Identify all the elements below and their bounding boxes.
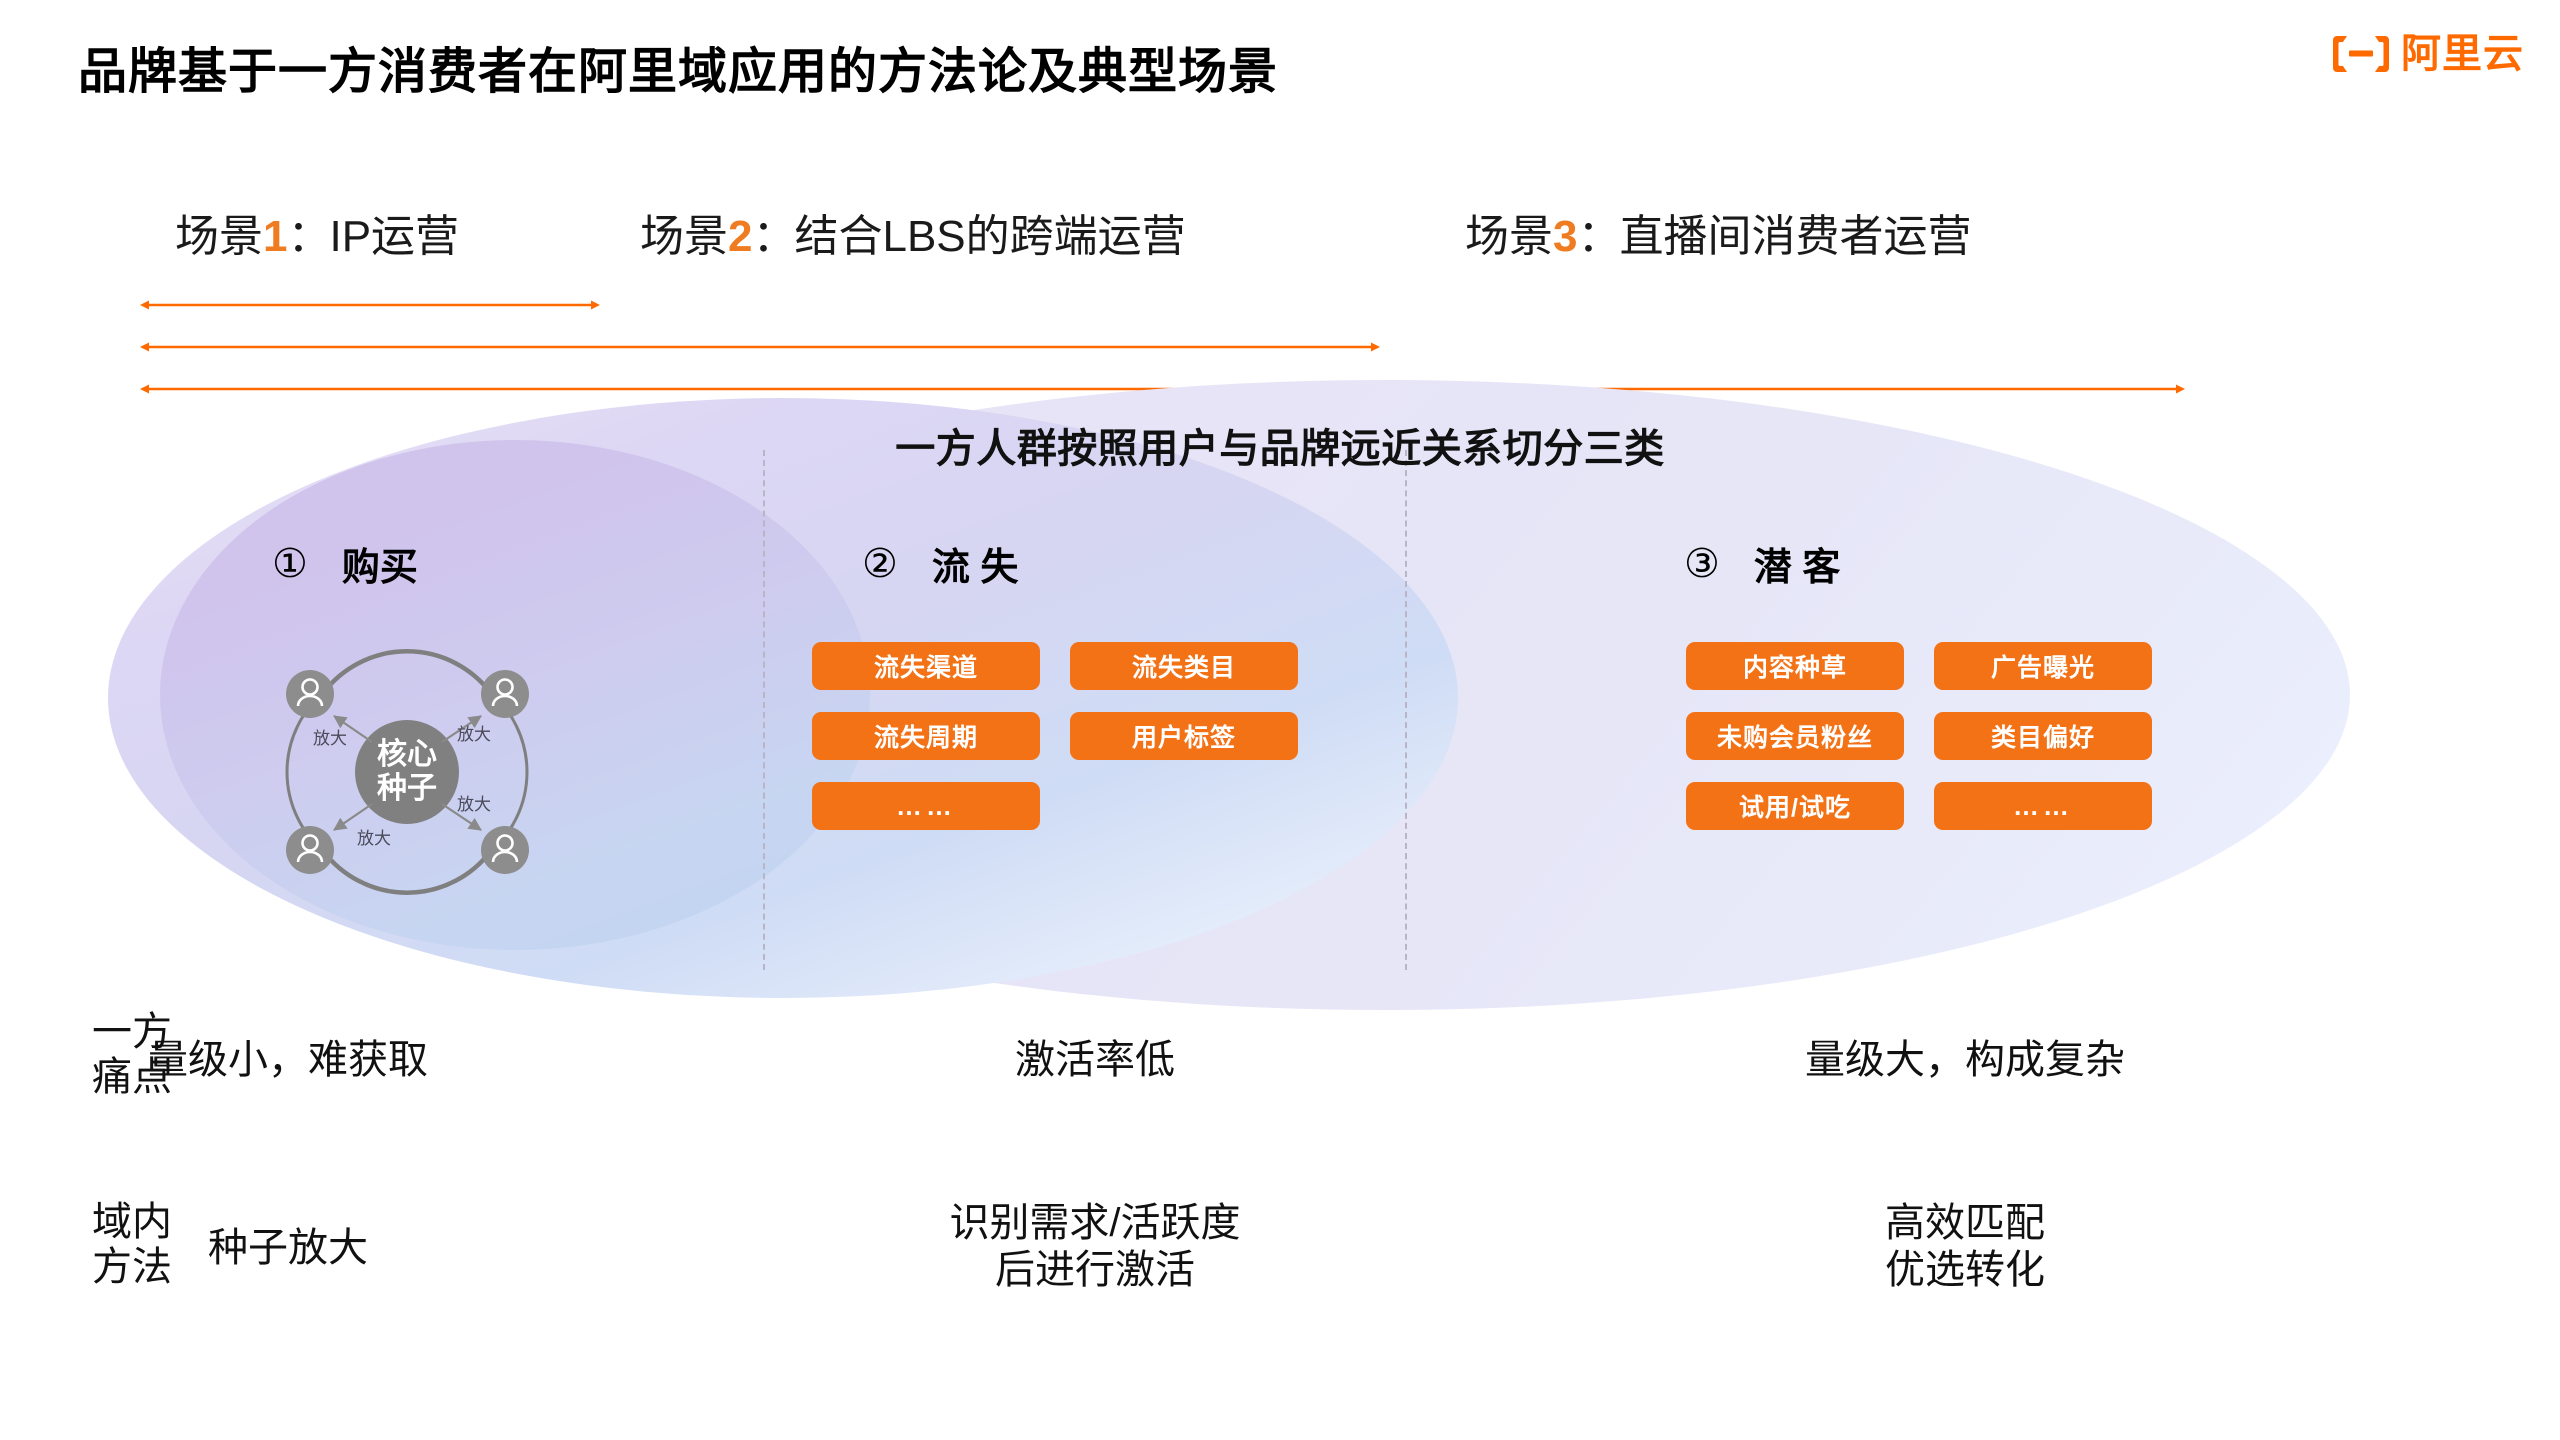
row-label-domain-method: 域内 方法 (92, 1200, 172, 1290)
scene-1-number: 1 (263, 212, 287, 261)
group-1-number: ① (272, 544, 308, 584)
method-value-churn-line2: 后进行激活 (949, 1247, 1240, 1294)
method-label-line1: 域内 (92, 1200, 172, 1245)
method-value-prospect-line2: 优选转化 (1885, 1247, 2045, 1294)
method-value-prospect-line1: 高效匹配 (1885, 1200, 2045, 1247)
alibaba-cloud-logo-icon (2333, 34, 2389, 74)
audience-tag[interactable]: …… (812, 782, 1040, 830)
audience-tag[interactable]: …… (1934, 782, 2152, 830)
group-divider-1 (763, 450, 765, 970)
group-header-prospect: ③ 潜 客 (1684, 536, 1840, 591)
prospect-tag-grid: 内容种草广告曝光未购会员粉丝类目偏好试用/试吃…… (1686, 642, 2152, 830)
audience-tag[interactable]: 用户标签 (1070, 712, 1298, 760)
logo-text: 阿里云 (2401, 34, 2524, 74)
group-3-name: 潜 客 (1754, 536, 1841, 591)
seed-center-line2: 种子 (377, 772, 437, 805)
amplify-label: 放大 (313, 729, 347, 748)
alibaba-cloud-logo: 阿里云 (2333, 34, 2524, 74)
scene-2-number: 2 (728, 212, 752, 261)
group-2-number: ② (862, 544, 898, 584)
audience-tag[interactable]: 未购会员粉丝 (1686, 712, 1904, 760)
audience-tag[interactable]: 试用/试吃 (1686, 782, 1904, 830)
audience-tag[interactable]: 流失周期 (812, 712, 1040, 760)
method-value-prospect: 高效匹配 优选转化 (1885, 1200, 2045, 1294)
scene-3-separator: ： (1577, 212, 1619, 261)
scene-2-prefix: 场景 (640, 212, 728, 261)
amplify-label: 放大 (357, 829, 391, 848)
group-divider-2 (1405, 450, 1407, 970)
scene-2-text: 结合LBS的跨端运营 (794, 212, 1185, 261)
group-header-churn: ② 流 失 (862, 536, 1018, 591)
group-header-purchase: ① 购买 (272, 536, 418, 591)
method-label-line2: 方法 (92, 1245, 172, 1290)
method-value-churn-line1: 识别需求/活跃度 (949, 1200, 1240, 1247)
scene-3-prefix: 场景 (1465, 212, 1553, 261)
pain-value-churn: 激活率低 (1015, 1037, 1175, 1084)
audience-tag[interactable]: 流失渠道 (812, 642, 1040, 690)
method-value-churn: 识别需求/活跃度 后进行激活 (949, 1200, 1240, 1294)
scope-arrow-2 (140, 340, 1380, 354)
scene-3-text: 直播间消费者运营 (1619, 212, 1971, 261)
audience-tag[interactable]: 广告曝光 (1934, 642, 2152, 690)
pain-value-purchase-line1: 量级小，难获取 (148, 1037, 428, 1084)
audience-tag[interactable]: 类目偏好 (1934, 712, 2152, 760)
seed-center-line1: 核心 (377, 738, 437, 771)
person-icon (481, 826, 529, 874)
method-value-purchase-line1: 种子放大 (208, 1225, 368, 1272)
churn-tag-grid: 流失渠道流失类目流失周期用户标签…… (812, 642, 1298, 830)
scene-1-prefix: 场景 (175, 212, 263, 261)
person-icon (286, 826, 334, 874)
scene-2-separator: ： (752, 212, 794, 261)
group-3-number: ③ (1684, 544, 1720, 584)
method-value-purchase: 种子放大 (208, 1225, 368, 1272)
pain-value-prospect-line1: 量级大，构成复杂 (1805, 1037, 2125, 1084)
amplify-label: 放大 (457, 795, 491, 814)
pain-value-prospect: 量级大，构成复杂 (1805, 1037, 2125, 1084)
amplify-label: 放大 (457, 725, 491, 744)
audience-tag[interactable]: 流失类目 (1070, 642, 1298, 690)
person-icon (481, 670, 529, 718)
scene-label-2: 场景2：结合LBS的跨端运营 (640, 200, 1186, 264)
group-1-name: 购买 (342, 536, 418, 591)
person-icon (286, 670, 334, 718)
pain-value-purchase: 量级小，难获取 (148, 1037, 428, 1084)
group-2-name: 流 失 (932, 536, 1019, 591)
slide-canvas: 品牌基于一方消费者在阿里域应用的方法论及典型场景 阿里云 场景1：IP运营 场景… (0, 0, 2560, 1440)
pain-value-churn-line1: 激活率低 (1015, 1037, 1175, 1084)
page-title: 品牌基于一方消费者在阿里域应用的方法论及典型场景 (78, 32, 1278, 103)
ellipse-title: 一方人群按照用户与品牌远近关系切分三类 (0, 416, 2560, 474)
scene-1-separator: ： (287, 212, 329, 261)
core-seed-diagram: 核心 种子 (262, 632, 552, 912)
scene-3-number: 3 (1553, 212, 1577, 261)
scope-arrow-1 (140, 298, 600, 312)
scene-label-1: 场景1：IP运营 (175, 200, 459, 264)
scene-label-3: 场景3：直播间消费者运营 (1465, 200, 1971, 264)
scene-1-text: IP运营 (329, 212, 459, 261)
audience-tag[interactable]: 内容种草 (1686, 642, 1904, 690)
